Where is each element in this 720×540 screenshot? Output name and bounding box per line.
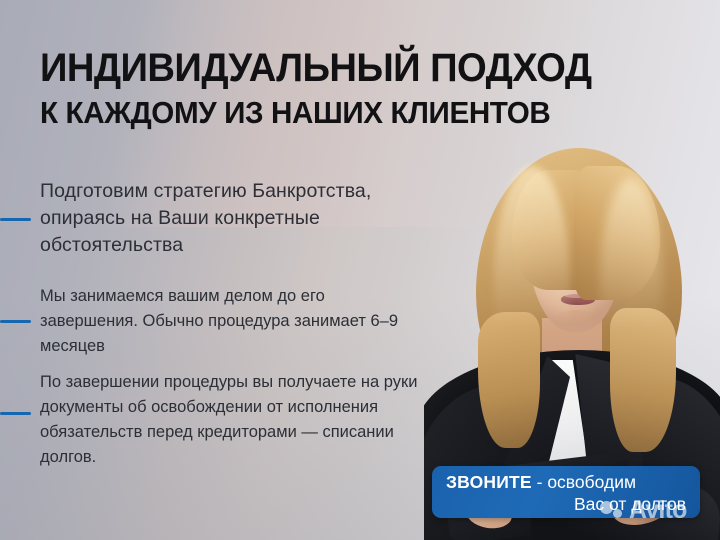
feature-text-result: По завершении процедуры вы получаете на … (40, 370, 440, 470)
blue-dash-marker-1 (0, 218, 31, 221)
hair-highlight-left (494, 166, 570, 396)
blue-dash-marker-3 (0, 412, 31, 415)
headline-line-1: ИНДИВИДУАЛЬНЫЙ ПОДХОД (40, 48, 670, 88)
cta-line-1-rest: - освободим (532, 472, 636, 492)
headline-line-2: К КАЖДОМУ ИЗ НАШИХ КЛИЕНТОВ (40, 97, 670, 128)
feature-block-result: По завершении процедуры вы получаете на … (40, 370, 440, 470)
avito-watermark: Avito (600, 497, 687, 523)
hair-highlight-right (600, 178, 662, 388)
page-title: ИНДИВИДУАЛЬНЫЙ ПОДХОД К КАЖДОМУ ИЗ НАШИХ… (40, 48, 700, 128)
feature-block-strategy: Подготовим стратегию Банкротства, опирая… (40, 178, 440, 259)
avito-dots-icon (600, 497, 626, 523)
cta-line-1: ЗВОНИТЕ - освободим (446, 471, 688, 493)
feature-text-strategy: Подготовим стратегию Банкротства, опирая… (40, 178, 440, 259)
avito-watermark-text: Avito (629, 497, 687, 523)
feature-block-duration: Мы занимаемся вашим делом до его заверше… (40, 284, 420, 359)
cta-keyword: ЗВОНИТЕ (446, 472, 532, 492)
feature-text-duration: Мы занимаемся вашим делом до его заверше… (40, 284, 420, 359)
blue-dash-marker-2 (0, 320, 31, 323)
